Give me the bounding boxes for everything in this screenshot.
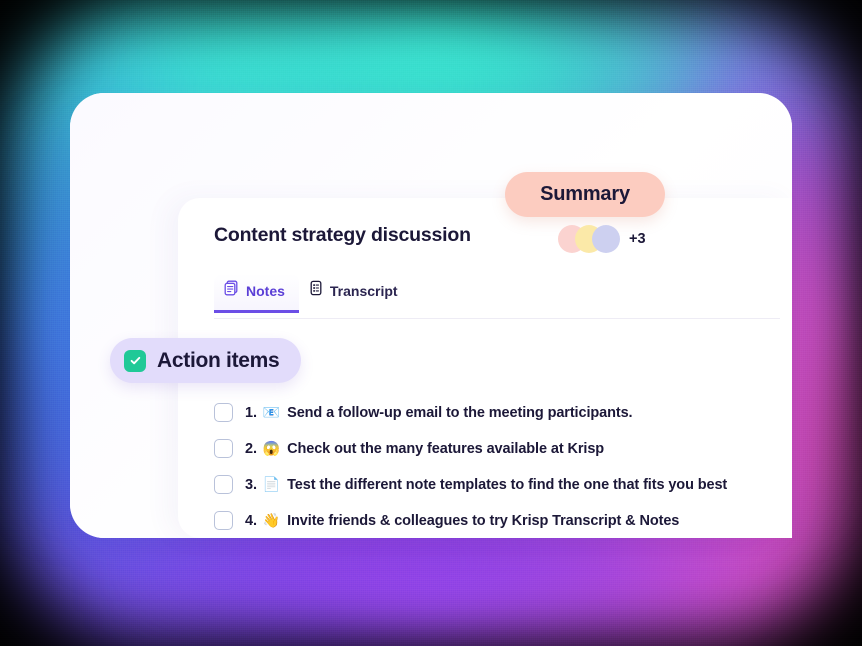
status-badge-summary[interactable]: Summary xyxy=(505,172,665,217)
action-item-checkbox[interactable] xyxy=(214,511,233,530)
summary-badge-label: Summary xyxy=(540,183,630,206)
avatar-overflow-count: +3 xyxy=(629,231,646,247)
action-item-label: Check out the many features available at… xyxy=(287,441,604,457)
transcript-icon xyxy=(309,280,323,301)
avatar xyxy=(592,225,620,253)
action-item-label: Invite friends & colleagues to try Krisp… xyxy=(287,513,679,529)
page-title: Content strategy discussion xyxy=(214,224,471,247)
list-item[interactable]: 2. 😱 Check out the many features availab… xyxy=(214,430,782,466)
tab-bar: Notes Transcript xyxy=(214,274,412,313)
tab-transcript-label: Transcript xyxy=(330,283,398,299)
screenshot-stage: Content strategy discussion Notes xyxy=(0,0,862,646)
tab-notes-label: Notes xyxy=(246,283,285,299)
action-item-text: 2. 😱 Check out the many features availab… xyxy=(245,440,604,457)
page-icon: 📄 xyxy=(263,476,280,492)
outer-card: Content strategy discussion Notes xyxy=(70,93,792,538)
action-item-label: Send a follow-up email to the meeting pa… xyxy=(287,405,632,421)
action-items-badge-label: Action items xyxy=(157,349,279,373)
action-item-number: 4. xyxy=(245,513,257,529)
list-item[interactable]: 3. 📄 Test the different note templates t… xyxy=(214,466,782,502)
action-items-list: 1. 📧 Send a follow-up email to the meeti… xyxy=(214,394,782,538)
avatar-group[interactable]: +3 xyxy=(558,225,646,253)
waving-hand-icon: 👋 xyxy=(263,512,280,528)
tab-divider xyxy=(214,318,780,319)
action-item-checkbox[interactable] xyxy=(214,475,233,494)
section-badge-action-items[interactable]: Action items xyxy=(110,338,301,383)
action-item-number: 3. xyxy=(245,477,257,493)
action-item-checkbox[interactable] xyxy=(214,439,233,458)
tab-notes[interactable]: Notes xyxy=(214,274,299,313)
screaming-face-icon: 😱 xyxy=(263,440,280,456)
action-item-text: 3. 📄 Test the different note templates t… xyxy=(245,476,727,493)
tab-transcript[interactable]: Transcript xyxy=(299,274,412,313)
list-item[interactable]: 4. 👋 Invite friends & colleagues to try … xyxy=(214,502,782,538)
panel-bottom-edge xyxy=(178,537,792,538)
action-item-text: 4. 👋 Invite friends & colleagues to try … xyxy=(245,512,679,529)
email-icon: 📧 xyxy=(263,404,280,420)
action-item-number: 1. xyxy=(245,405,257,421)
checkmark-icon xyxy=(124,350,146,372)
notes-icon xyxy=(224,280,239,301)
action-item-checkbox[interactable] xyxy=(214,403,233,422)
list-item[interactable]: 1. 📧 Send a follow-up email to the meeti… xyxy=(214,394,782,430)
action-item-label: Test the different note templates to fin… xyxy=(287,477,727,493)
action-item-number: 2. xyxy=(245,441,257,457)
action-item-text: 1. 📧 Send a follow-up email to the meeti… xyxy=(245,404,632,421)
